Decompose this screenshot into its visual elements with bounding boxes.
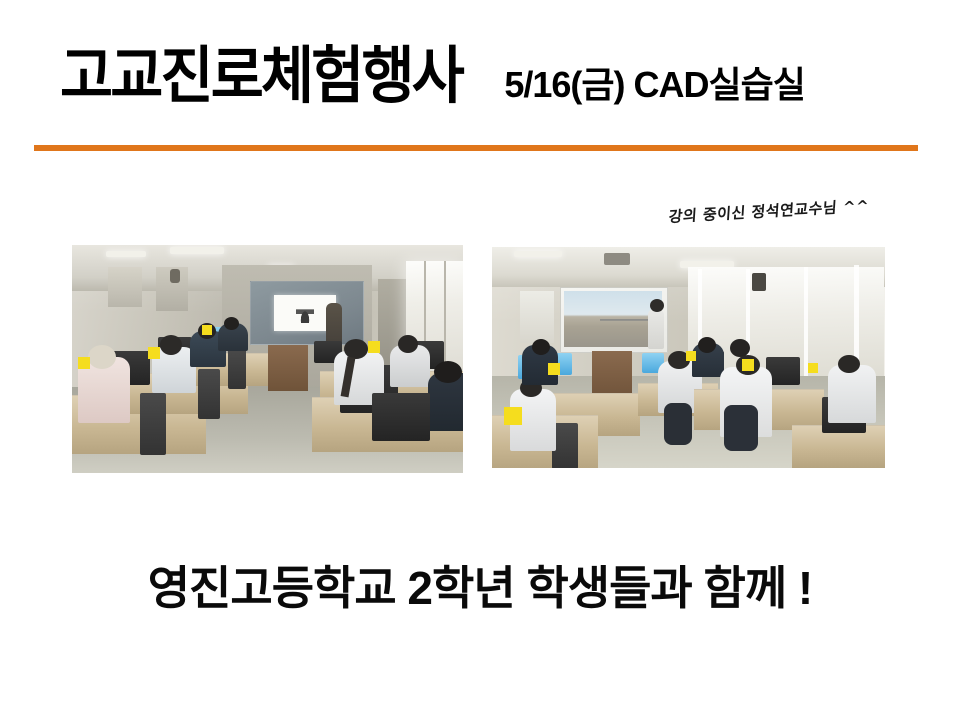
ceiling-light [170,247,224,254]
ceiling-light [106,251,146,257]
page-title: 고교진로체험행사 [60,46,462,108]
classroom-photo-left [72,245,463,473]
handwritten-annotation: 강의 중이신 정석연교수님 ^^ [668,195,870,227]
face-blur-sticker [504,407,522,425]
face-blur-sticker [202,325,212,335]
face-blur-sticker [148,347,160,359]
monitor [372,393,430,441]
student-head-cap [88,345,116,369]
office-chair [664,403,692,445]
face-blur-sticker [742,359,754,371]
face-blur-sticker [808,363,818,373]
student-head [434,361,462,383]
wall-cabinet [108,267,142,307]
desktop-tower [228,349,246,389]
whiteboard [520,291,554,343]
student-head [160,335,182,355]
student-head [532,339,550,355]
student-figure [828,365,876,423]
face-blur-sticker [548,363,560,375]
face-blur-sticker [686,351,696,361]
page-subtitle: 5/16(금) CAD실습실 [504,67,805,103]
ceiling-light [514,251,562,257]
wall-speaker [170,269,180,283]
slide-title-row: 고교진로체험행사 5/16(금) CAD실습실 [60,46,805,108]
face-blur-sticker [78,357,90,369]
title-divider-rule [34,145,918,151]
lectern [268,345,308,391]
footer-caption: 영진고등학교 2학년 학생들과 함께 ! [0,552,960,618]
slide-canvas: 고교진로체험행사 5/16(금) CAD실습실 강의 중이신 정석연교수님 ^^ [0,0,960,720]
student-head [698,337,716,353]
face-blur-sticker [368,341,380,353]
desktop-tower [198,369,220,419]
projected-slide-graphic [296,301,314,323]
office-chair [724,405,758,451]
student-head [224,317,239,330]
instructor-figure [648,309,664,349]
wall-speaker [752,273,766,291]
desktop-tower [140,393,166,455]
classroom-photo-right [492,247,885,468]
student-head [398,335,418,353]
instructor-head [650,299,664,312]
ceiling-projector [604,253,630,265]
student-head [838,355,860,373]
